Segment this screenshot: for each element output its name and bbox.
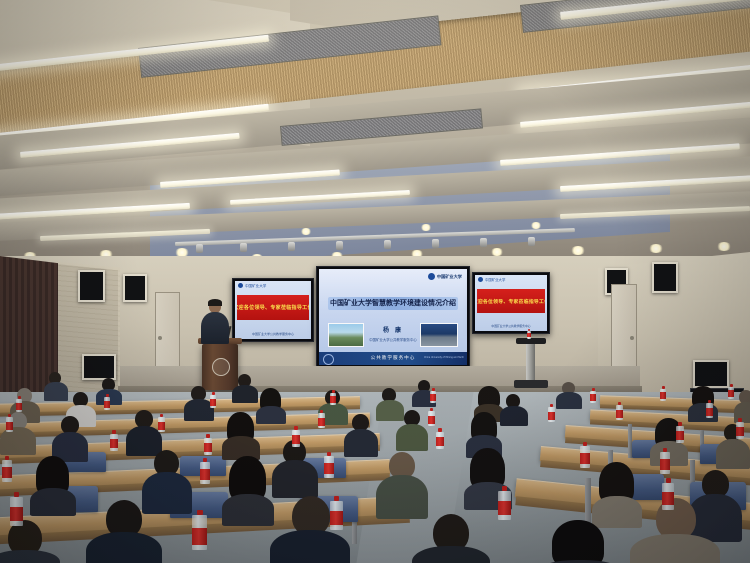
person-torso (630, 534, 720, 563)
bottle-label (10, 507, 23, 521)
audience-member (630, 498, 720, 563)
bottle-label (660, 392, 666, 399)
right-screen-brand: 中国矿业大学 (485, 277, 505, 282)
left-screen-brand: 中国矿业大学 (245, 283, 266, 288)
water-bottle (292, 426, 300, 447)
bottle-label (192, 528, 207, 545)
water-bottle (318, 410, 325, 428)
bottle-label (660, 459, 670, 470)
presenter-hair (208, 299, 222, 306)
track-spotlight (384, 240, 391, 249)
bottle-label (330, 396, 336, 403)
water-bottle (498, 486, 511, 520)
water-bottle (660, 386, 666, 401)
bottle-label (728, 390, 734, 397)
person-torso (688, 403, 718, 422)
track-spotlight (288, 242, 295, 251)
wall-speaker (652, 262, 678, 293)
university-logo-icon (238, 283, 243, 288)
person-torso (222, 494, 274, 526)
slide-affiliation: 中国矿业大学公共教学服务中心 (319, 337, 467, 342)
audience-member (716, 424, 750, 468)
water-bottle (580, 442, 590, 468)
audience-member (376, 452, 428, 516)
water-bottle (662, 478, 674, 510)
audience-member (222, 456, 274, 524)
water-bottle (6, 414, 13, 432)
wall-air-vent (82, 354, 116, 380)
left-display-panel: 中国矿业大学 欢迎各位领导、专家莅临指导工作 中国矿业大学公共教学服务中心 (232, 278, 314, 342)
person-hair (552, 520, 604, 563)
left-screen-banner-text: 欢迎各位领导、专家莅临指导工作 (237, 304, 309, 311)
bottle-label (318, 418, 325, 426)
bottle-label (104, 401, 110, 408)
lectern-emblem-icon (212, 358, 230, 376)
person-torso (556, 392, 582, 409)
ceiling-downlight (648, 244, 664, 253)
bottle-label (527, 333, 531, 337)
bottle-label (158, 422, 165, 430)
wall-speaker (78, 270, 105, 302)
audience-member (396, 410, 428, 450)
audience-member (344, 414, 378, 456)
track-spotlight (480, 238, 487, 247)
av-cart-base (514, 380, 548, 388)
audience-member (556, 382, 582, 408)
main-display-panel: 中国矿业大学 中国矿业大学智慧教学环境建设情况介绍 杨 康 中国矿业大学公共教学… (316, 266, 470, 368)
water-bottle (10, 492, 23, 526)
left-screen-subtext: 中国矿业大学公共教学服务中心 (235, 332, 311, 336)
slide-title: 中国矿业大学智慧教学环境建设情况介绍 (328, 297, 458, 310)
person-torso (716, 439, 750, 469)
audience-member (222, 412, 260, 458)
audience-member (0, 520, 60, 563)
person-torso (270, 530, 350, 563)
water-bottle (736, 418, 744, 439)
track-spotlight (336, 241, 343, 250)
university-logo-icon (478, 277, 483, 282)
water-bottle (2, 456, 12, 482)
bottle-label (210, 399, 216, 406)
bottle-label (676, 431, 684, 440)
audience-member (52, 416, 88, 460)
person-torso (44, 382, 68, 401)
audience-member (412, 514, 490, 563)
person-torso (344, 429, 378, 457)
water-bottle (110, 430, 118, 451)
track-spotlight (240, 243, 247, 252)
bottle-label (110, 439, 118, 448)
bottle-label (498, 501, 511, 515)
water-bottle (706, 400, 713, 418)
bottle-label (6, 422, 13, 430)
audience-member (540, 520, 620, 563)
water-bottle (192, 510, 207, 550)
bottle-label (736, 427, 744, 436)
bottle-label (2, 467, 12, 478)
water-bottle (158, 414, 165, 432)
audience-member (232, 374, 258, 402)
water-bottle (104, 394, 110, 410)
water-bottle (330, 496, 343, 530)
right-display-panel: 中国矿业大学 欢迎各位领导、专家莅临指导工作 中国矿业大学公共教学服务中心 (472, 272, 550, 334)
bottle-label (548, 412, 555, 420)
water-bottle (436, 428, 444, 449)
ceiling-downlight (530, 222, 542, 229)
water-bottle (676, 422, 684, 443)
water-bottle (548, 404, 555, 422)
audience-member (500, 394, 528, 424)
av-cart-column[interactable] (526, 344, 535, 382)
wall-air-vent (693, 360, 729, 388)
track-spotlight (196, 244, 203, 253)
water-bottle (660, 448, 670, 474)
ceiling-downlight (420, 224, 432, 231)
track-spotlight (432, 239, 439, 248)
slide-footer: 公共教学服务中心 China University of Mining and … (319, 352, 467, 365)
slide-footer-right: China University of Mining and Technolog… (424, 356, 464, 359)
bottle-label (324, 463, 334, 474)
water-bottle (210, 392, 216, 408)
bottle-label (616, 410, 623, 418)
person-torso (86, 532, 162, 563)
bottle-label (662, 492, 674, 505)
presenter-torso (201, 312, 229, 344)
person-torso (30, 488, 76, 516)
door-handle[interactable] (630, 336, 634, 340)
bottle-label (436, 437, 444, 446)
water-bottle (200, 458, 210, 484)
lecture-hall-screenshot: 中国矿业大学 欢迎各位领导、专家莅临指导工作 中国矿业大学公共教学服务中心 中国… (0, 0, 750, 563)
bottle-label (292, 435, 300, 444)
bottle-label (330, 511, 343, 525)
slide-brand: 中国矿业大学 (437, 274, 462, 280)
water-bottle (204, 434, 212, 455)
water-bottle (430, 388, 436, 403)
water-bottle (527, 329, 531, 339)
left-screen-welcome-banner: 欢迎各位领导、专家莅临指导工作 (237, 295, 309, 320)
bottle-label (204, 443, 212, 452)
door-handle[interactable] (158, 336, 162, 340)
right-screen-subtext: 中国矿业大学公共教学服务中心 (475, 324, 547, 328)
water-bottle (16, 396, 22, 412)
person-torso (0, 550, 60, 563)
water-bottle (324, 452, 334, 478)
person-torso (396, 424, 428, 451)
ceiling-downlight (300, 228, 312, 235)
ceiling-downlight (490, 248, 504, 256)
bottle-label (706, 408, 713, 416)
right-screen-banner-text: 欢迎各位领导、专家莅临指导工作 (477, 298, 545, 305)
wall-speaker (123, 274, 147, 302)
bottle-label (200, 469, 210, 480)
audience-member (688, 386, 718, 420)
audience-member (126, 410, 162, 454)
audience-member (30, 456, 76, 514)
track-spotlight (528, 237, 535, 246)
ceiling-downlight (570, 246, 586, 255)
person-torso (232, 385, 258, 403)
water-bottle (728, 384, 734, 399)
audience-member (44, 372, 68, 400)
water-bottle (616, 402, 623, 420)
ceiling-downlight (716, 242, 732, 251)
bottle-label (590, 394, 596, 401)
slide-speaker-name: 杨 康 (319, 325, 467, 334)
bottle-label (428, 416, 435, 424)
person-torso (376, 475, 428, 519)
audience-member (256, 388, 286, 422)
water-bottle (428, 408, 435, 426)
presenter (198, 300, 232, 344)
person-torso (500, 406, 528, 426)
person-torso (256, 406, 286, 424)
bottle-label (580, 453, 590, 464)
audience-member (86, 500, 162, 563)
audience-member (272, 440, 318, 496)
bottle-label (16, 403, 22, 410)
water-bottle (330, 390, 336, 405)
university-logo-icon (428, 273, 435, 280)
person-torso (412, 546, 490, 563)
bottle-label (430, 394, 436, 401)
person-torso (272, 460, 318, 498)
water-bottle (590, 388, 596, 403)
right-screen-welcome-banner: 欢迎各位领导、专家莅临指导工作 (477, 289, 545, 313)
